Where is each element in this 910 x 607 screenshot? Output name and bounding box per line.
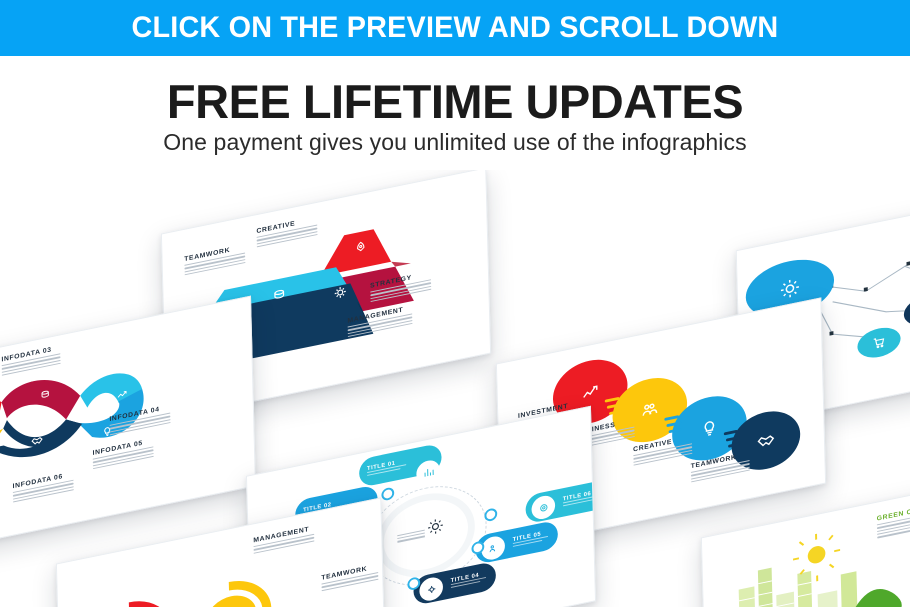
slide-gallery: MARKETING BUSINESS: [0, 170, 910, 607]
ring-teamwork-core: [207, 591, 257, 607]
infinity-icon-coins: [40, 389, 51, 402]
cart-icon: [872, 335, 886, 351]
page-subtitle: One payment gives you unlimited use of t…: [0, 129, 910, 156]
pyramid-icon-rocket: [354, 240, 367, 255]
pyramid-icon-gear: [333, 284, 348, 301]
handshake-icon: [757, 430, 775, 451]
hub-pill-title05[interactable]: TITLE 05: [475, 520, 558, 565]
target-icon: [538, 501, 549, 514]
hub-bubble-title05: [481, 534, 505, 561]
infinity-icon-growth: [117, 388, 128, 401]
people-icon: [641, 400, 659, 421]
infinity-segment-1: [0, 390, 2, 434]
hub-center-icon: [426, 516, 444, 537]
infinity-canvas: INFODATA 02 INFODATA 03 INFODATA 04 INFO…: [0, 297, 255, 556]
banner-text: CLICK ON THE PREVIEW AND SCROLL DOWN: [132, 11, 779, 45]
hub-pill-title06[interactable]: TITLE 06: [525, 479, 596, 524]
bulb-icon: [700, 418, 718, 439]
pyramid-icon-coins: [272, 287, 287, 304]
hub-bubble-title06: [531, 494, 555, 521]
hub-connector-1: [381, 487, 394, 502]
chart-icon: [423, 466, 434, 479]
hub-center-lines: [397, 530, 425, 545]
hub-connector-5: [484, 507, 497, 522]
announcement-banner[interactable]: CLICK ON THE PREVIEW AND SCROLL DOWN: [0, 0, 910, 56]
gear-idea-icon: [779, 276, 801, 301]
page-title: FREE LIFETIME UPDATES: [0, 74, 910, 129]
hub-bubble-title04: [419, 575, 443, 602]
people-icon: [488, 542, 499, 555]
hub-bubble-title01: [416, 458, 440, 485]
infinity-icon-handshake: [31, 434, 43, 448]
slide-infinity-loop-infographic[interactable]: INFODATA 02 INFODATA 03 INFODATA 04 INFO…: [0, 296, 256, 557]
hub-pill-title01[interactable]: TITLE 01: [359, 443, 442, 488]
growth-chart-icon: [581, 382, 599, 403]
gear-icon: [426, 583, 437, 596]
